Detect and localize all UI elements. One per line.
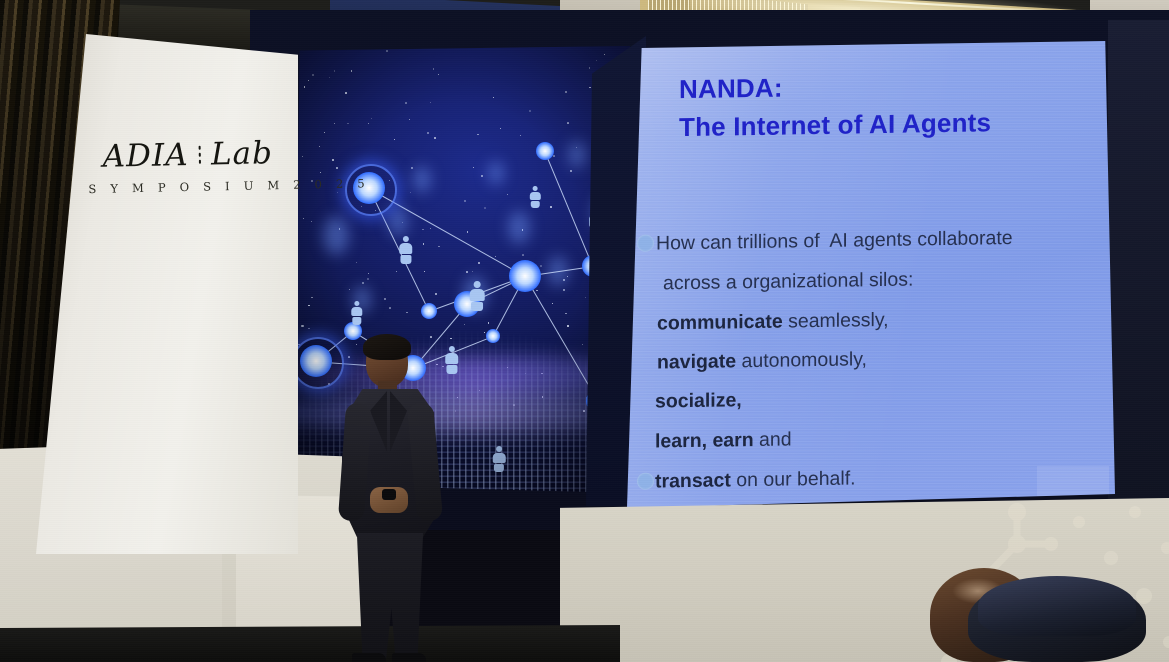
logo-word-lab: Lab bbox=[211, 135, 274, 172]
presentation-clicker-icon bbox=[382, 489, 396, 500]
adia-lab-logo-text: ADIA Lab bbox=[87, 135, 288, 175]
audience-head-front-hair bbox=[978, 576, 1136, 636]
slide-bullet-marker bbox=[637, 473, 654, 490]
adia-lab-logo: ADIA Lab S Y M P O S I U M 2 0 2 5 bbox=[87, 135, 288, 196]
stage-floor bbox=[0, 625, 620, 662]
slide-title-line1: NANDA: bbox=[679, 73, 783, 106]
conference-stage-photo: NANDA: The Internet of AI Agents How can… bbox=[0, 0, 1169, 662]
banner-subtitle: S Y M P O S I U M 2 0 2 5 bbox=[88, 178, 288, 196]
slide-body-line: How can trillions of AI agents collabora… bbox=[656, 227, 1013, 256]
presenter bbox=[330, 337, 450, 662]
slide-bullet-marker bbox=[637, 235, 654, 252]
slide-body-line: learn, earn and bbox=[655, 428, 792, 453]
presenter-shoe-right bbox=[392, 653, 426, 662]
presenter-hair bbox=[363, 334, 411, 360]
slide-body-keyword: socialize, bbox=[655, 389, 742, 412]
slide-body-keyword: navigate bbox=[657, 350, 736, 373]
slide-body-keyword: communicate bbox=[657, 311, 783, 335]
slide-body-line: across a organizational silos: bbox=[663, 269, 913, 296]
right-wall bbox=[1108, 20, 1169, 520]
vertical-dots-icon bbox=[197, 146, 202, 164]
slide-body-keyword: learn, earn bbox=[655, 429, 754, 453]
presenter-shoe-left bbox=[352, 653, 386, 662]
adia-lab-banner-content: ADIA Lab S Y M P O S I U M 2 0 2 5 bbox=[36, 34, 298, 554]
logo-word-adia: ADIA bbox=[102, 137, 189, 175]
slide-title-line2: The Internet of AI Agents bbox=[679, 107, 991, 143]
slide-body-line: communicate seamlessly, bbox=[657, 309, 889, 336]
slide-content: NANDA: The Internet of AI Agents How can… bbox=[627, 33, 1115, 508]
slide-body-line: transact on our behalf. bbox=[655, 467, 856, 493]
slide-body-line: navigate autonomously, bbox=[657, 348, 867, 374]
slide-body-keyword: transact bbox=[655, 469, 731, 492]
slide-body-line: socialize, bbox=[655, 389, 742, 413]
presenter-legs bbox=[354, 533, 426, 662]
